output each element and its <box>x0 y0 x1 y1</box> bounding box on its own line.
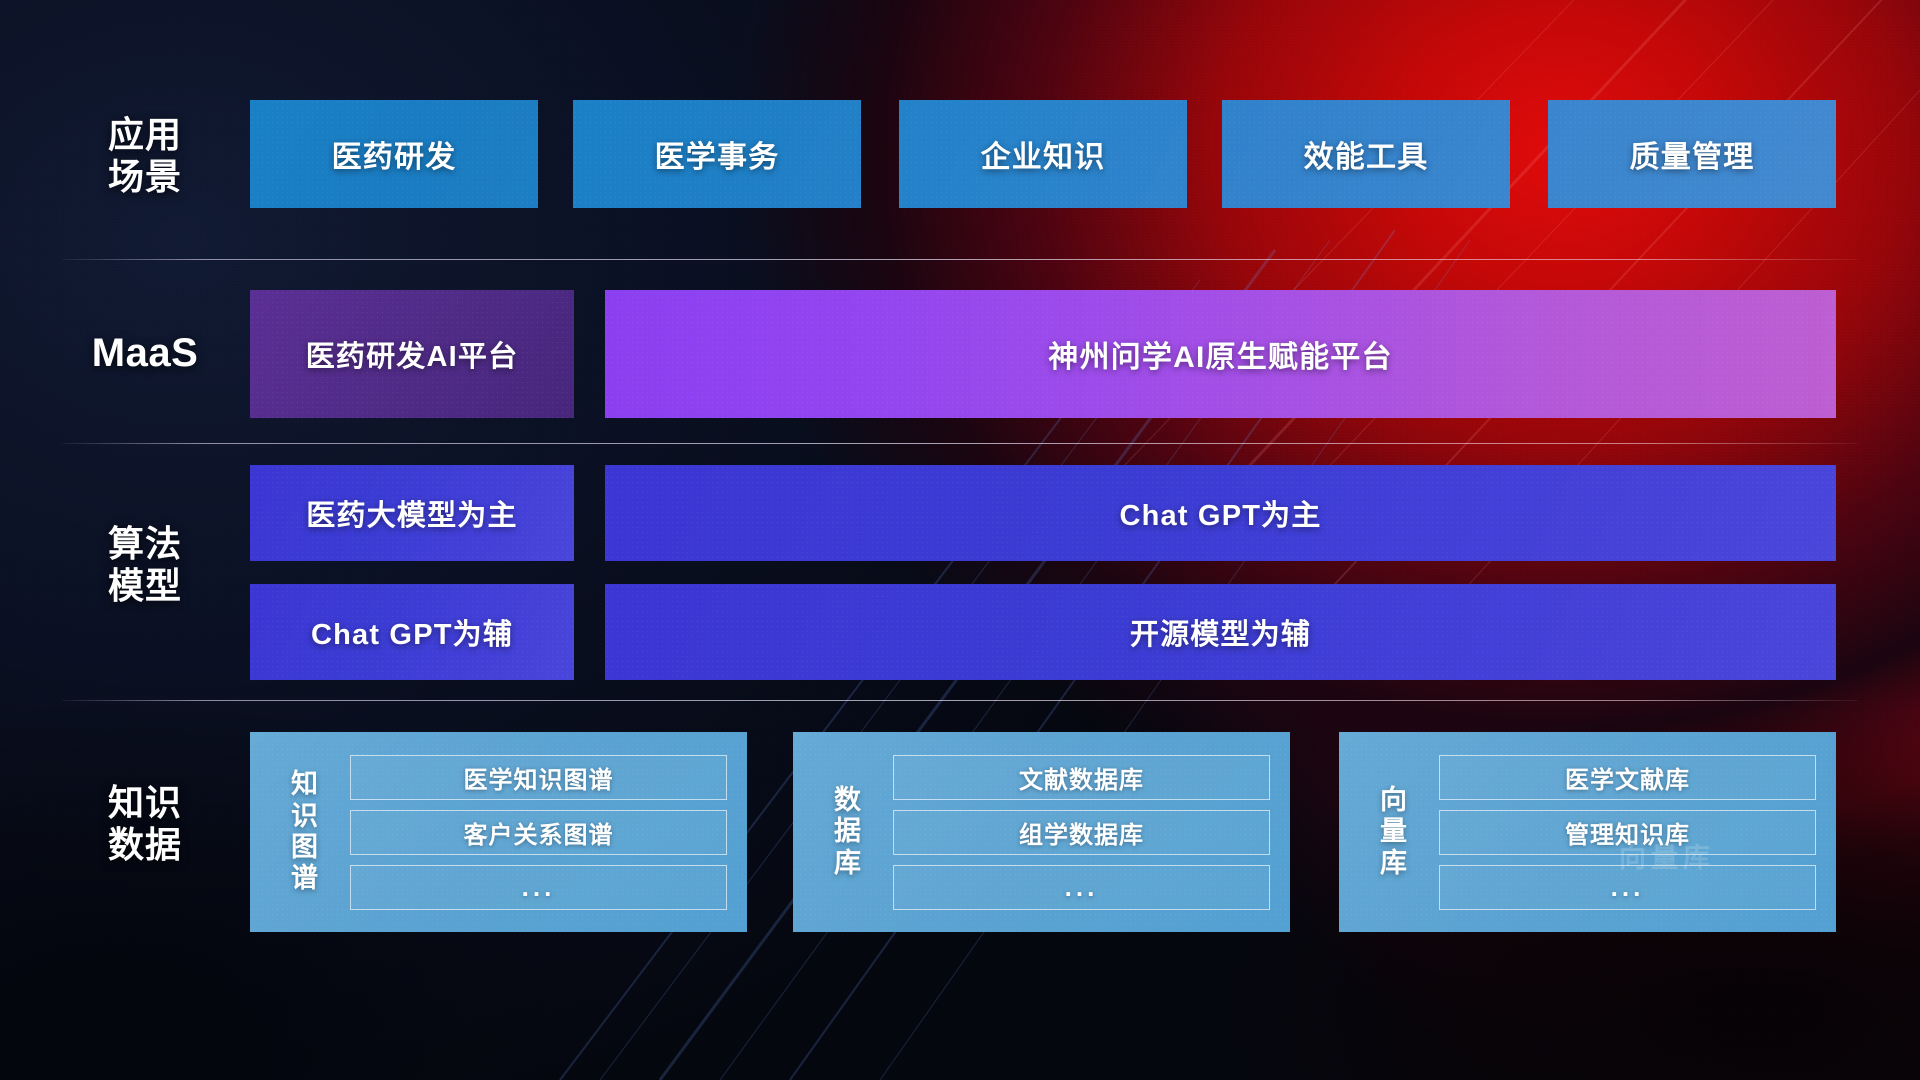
algo-box-opensource-secondary[interactable]: 开源模型为辅 <box>605 584 1836 680</box>
knowledge-item-medical-literature[interactable]: 医学文献库 <box>1439 755 1816 800</box>
knowledge-group-database-items: 文献数据库 组学数据库 ... <box>879 739 1290 926</box>
row-label-application-scenarios: 应用 场景 <box>70 114 220 198</box>
row-label-algo-line-2: 模型 <box>70 565 220 607</box>
app-scenario-label-3: 企业知识 <box>981 132 1106 176</box>
knowledge-group-database[interactable]: 数 据 库 文献数据库 组学数据库 ... <box>793 732 1290 932</box>
knowledge-group-database-label-char-2: 据 <box>817 816 879 847</box>
row-maas: MaaS 医药研发AI平台 神州问学AI原生赋能平台 <box>0 290 1920 418</box>
row-label-maas-text: MaaS <box>70 330 220 377</box>
row-label-algorithm-models: 算法 模型 <box>70 523 220 607</box>
app-scenario-box-2[interactable]: 医学事务 <box>573 100 861 208</box>
app-scenario-box-4[interactable]: 效能工具 <box>1222 100 1510 208</box>
knowledge-group-database-label: 数 据 库 <box>817 785 879 879</box>
app-scenario-label-2: 医学事务 <box>655 132 780 176</box>
knowledge-group-database-label-char-1: 数 <box>817 785 879 816</box>
knowledge-group-vector-store-label-char-2: 量 <box>1363 816 1425 847</box>
maas-box-shenzhou-platform[interactable]: 神州问学AI原生赋能平台 <box>605 290 1836 418</box>
maas-box-pharma-ai-platform[interactable]: 医药研发AI平台 <box>250 290 574 418</box>
knowledge-group-graph-label-char-2: 识 <box>274 801 336 832</box>
row-label-maas: MaaS <box>70 330 220 377</box>
app-scenario-label-4: 效能工具 <box>1304 132 1429 176</box>
app-scenario-box-5[interactable]: 质量管理 <box>1548 100 1836 208</box>
knowledge-group-database-label-char-3: 库 <box>817 848 879 879</box>
algo-box-chatgpt-primary[interactable]: Chat GPT为主 <box>605 465 1836 561</box>
app-scenario-label-1: 医药研发 <box>332 132 457 176</box>
algo-box-chatgpt-secondary[interactable]: Chat GPT为辅 <box>250 584 574 680</box>
knowledge-group-graph-items: 医学知识图谱 客户关系图谱 ... <box>336 739 747 926</box>
knowledge-item-literature-db[interactable]: 文献数据库 <box>893 755 1270 800</box>
maas-label-pharma-ai-platform: 医药研发AI平台 <box>306 333 519 375</box>
knowledge-item-medical-graph[interactable]: 医学知识图谱 <box>350 755 727 800</box>
row-knowledge-data: 知识 数据 知 识 图 谱 医学知识图谱 客户关系图谱 ... 数 据 库 <box>0 732 1920 932</box>
knowledge-group-vector-store-label-char-1: 向 <box>1363 785 1425 816</box>
algo-label-opensource-secondary: 开源模型为辅 <box>1130 611 1311 653</box>
algo-label-pharma-llm-primary: 医药大模型为主 <box>306 492 517 534</box>
knowledge-group-graph-label: 知 识 图 谱 <box>274 769 336 894</box>
knowledge-group-graph-label-char-4: 谱 <box>274 863 336 894</box>
knowledge-group-graph-label-char-1: 知 <box>274 769 336 800</box>
row-label-knowledge-line-2: 数据 <box>70 824 220 866</box>
knowledge-item-vector-more[interactable]: ... <box>1439 865 1816 910</box>
app-scenario-box-1[interactable]: 医药研发 <box>250 100 538 208</box>
row-label-line-1: 应用 <box>70 114 220 156</box>
algo-label-chatgpt-primary: Chat GPT为主 <box>1119 492 1321 534</box>
knowledge-group-graph[interactable]: 知 识 图 谱 医学知识图谱 客户关系图谱 ... <box>250 732 747 932</box>
knowledge-item-customer-graph[interactable]: 客户关系图谱 <box>350 810 727 855</box>
row-algorithm-models: 算法 模型 医药大模型为主 Chat GPT为主 Chat GPT为辅 开源模型… <box>0 465 1920 680</box>
row-label-line-2: 场景 <box>70 156 220 198</box>
algo-box-pharma-llm-primary[interactable]: 医药大模型为主 <box>250 465 574 561</box>
row-label-algo-line-1: 算法 <box>70 523 220 565</box>
knowledge-group-vector-store-label: 向 量 库 <box>1363 785 1425 879</box>
knowledge-item-database-more[interactable]: ... <box>893 865 1270 910</box>
knowledge-group-vector-store-items: 医学文献库 管理知识库 ... <box>1425 739 1836 926</box>
knowledge-item-management-kb[interactable]: 管理知识库 <box>1439 810 1816 855</box>
row-label-knowledge-line-1: 知识 <box>70 782 220 824</box>
app-scenario-label-5: 质量管理 <box>1630 132 1755 176</box>
row-label-knowledge-data: 知识 数据 <box>70 782 220 866</box>
divider-3 <box>62 700 1858 701</box>
maas-label-shenzhou-platform: 神州问学AI原生赋能平台 <box>1048 332 1392 376</box>
algo-label-chatgpt-secondary: Chat GPT为辅 <box>311 611 513 653</box>
divider-1 <box>62 259 1858 260</box>
knowledge-item-omics-db[interactable]: 组学数据库 <box>893 810 1270 855</box>
knowledge-group-graph-label-char-3: 图 <box>274 832 336 863</box>
row-application-scenarios: 应用 场景 医药研发 医学事务 企业知识 效能工具 质量管理 <box>0 100 1920 208</box>
knowledge-item-graph-more[interactable]: ... <box>350 865 727 910</box>
knowledge-group-vector-store[interactable]: 向 量 库 医学文献库 管理知识库 ... 向量库 <box>1339 732 1836 932</box>
app-scenario-box-3[interactable]: 企业知识 <box>899 100 1187 208</box>
divider-2 <box>62 443 1858 444</box>
knowledge-group-vector-store-label-char-3: 库 <box>1363 848 1425 879</box>
